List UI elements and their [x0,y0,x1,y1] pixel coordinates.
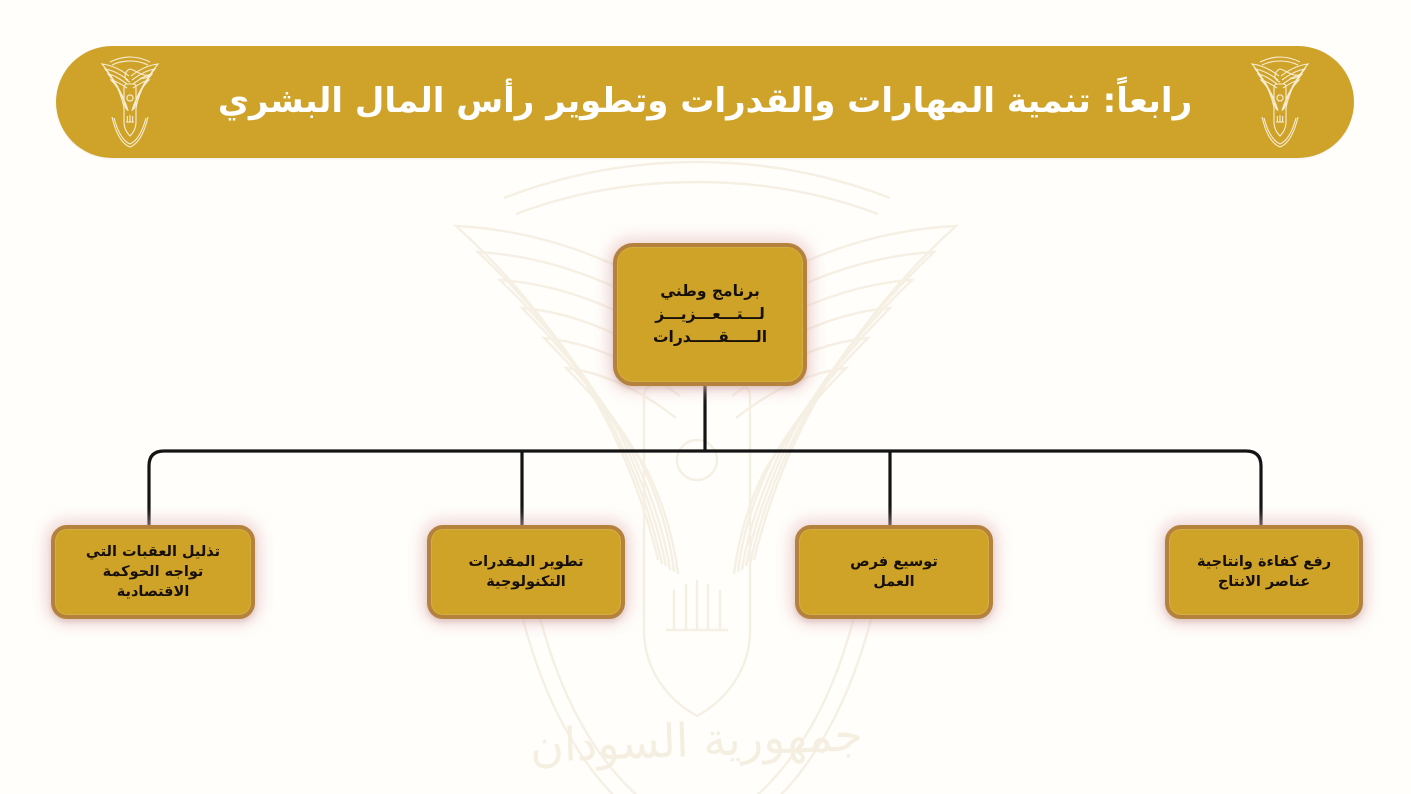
org-node-child-4[interactable]: رفع كفاءة وانتاجية عناصر الانتاج [1165,525,1363,619]
org-node-child-2[interactable]: تطوير المقدرات التكنولوجية [427,525,625,619]
org-node-child-4-label: رفع كفاءة وانتاجية عناصر الانتاج [1187,550,1341,594]
org-node-child-3[interactable]: توسيع فرص العمل [795,525,993,619]
sudan-national-emblem-icon [1248,56,1312,148]
page-title: رابعاً: تنمية المهارات والقدرات وتطوير ر… [98,82,1312,121]
org-node-child-2-label: تطوير المقدرات التكنولوجية [459,550,594,594]
org-node-root[interactable]: برنامج وطني لـــتـــعـــزيـــز الـــــقـ… [613,243,807,386]
connector-bus [149,451,1261,525]
org-node-root-label: برنامج وطني لـــتـــعـــزيـــز الـــــقـ… [643,278,777,352]
org-node-child-3-label: توسيع فرص العمل [840,550,948,594]
sudan-national-emblem-icon [98,56,162,148]
header-banner: رابعاً: تنمية المهارات والقدرات وتطوير ر… [56,46,1354,158]
slide-canvas: جمهورية السودان [0,0,1411,794]
org-node-child-1[interactable]: تذليل العقبات التي تواجه الحوكمة الاقتصا… [51,525,255,619]
svg-text:جمهورية السودان: جمهورية السودان [529,707,864,774]
org-node-child-1-label: تذليل العقبات التي تواجه الحوكمة الاقتصا… [76,540,230,604]
